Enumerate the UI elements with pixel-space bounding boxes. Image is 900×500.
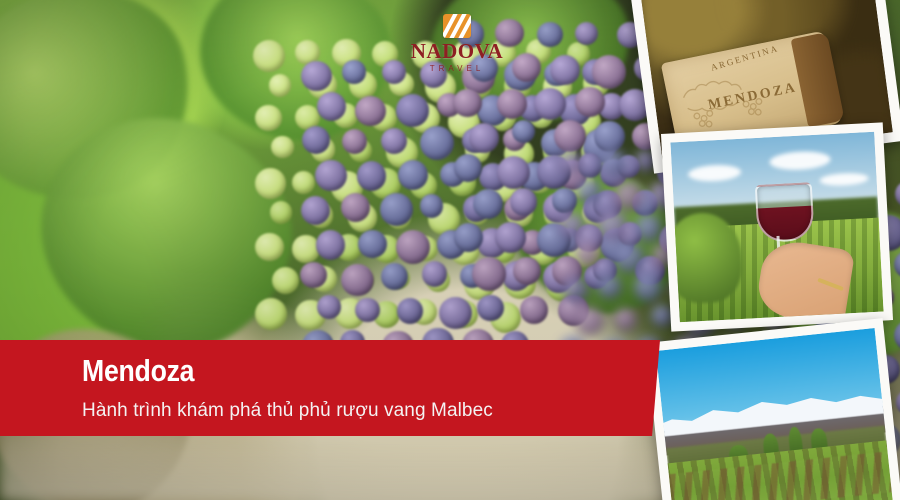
diagonal-stripes-mark-icon <box>443 14 471 38</box>
photo-wine-glass-vineyard <box>670 132 883 322</box>
page-title: Mendoza <box>82 355 194 386</box>
hero-banner-canvas: NADOVA TRAVEL ARGENTINA ME <box>0 0 900 500</box>
brand-name: NADOVA <box>398 41 516 62</box>
photo-card-wine-glass[interactable] <box>661 122 893 331</box>
photo-card-andes[interactable] <box>646 318 900 500</box>
photo-andes-vineyard <box>656 328 894 500</box>
brand-tagline: TRAVEL <box>398 64 516 73</box>
page-subtitle: Hành trình khám phá thủ phủ rượu vang Ma… <box>82 400 493 422</box>
brand-logo[interactable]: NADOVA TRAVEL <box>398 14 516 73</box>
